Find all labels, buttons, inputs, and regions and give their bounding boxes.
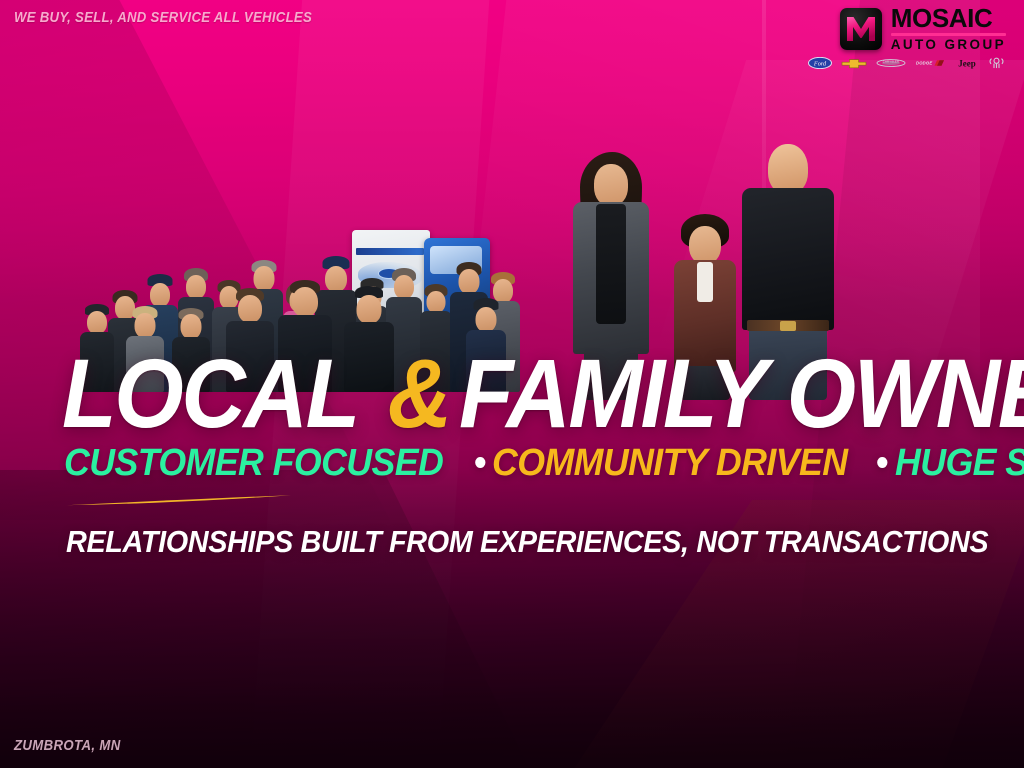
ram-icon: [989, 56, 1004, 70]
headline-part-1: LOCAL: [62, 345, 358, 442]
dodge-icon: DODGE: [915, 56, 945, 70]
logo-wordmark: MOSAIC AUTO GROUP: [891, 6, 1006, 51]
svg-text:DODGE: DODGE: [916, 61, 932, 66]
logo-subtitle: AUTO GROUP: [891, 38, 1006, 52]
jeep-icon: Jeep: [954, 56, 980, 70]
brand-logo-strip: Ford CHRYSLER DODGE: [808, 56, 1006, 70]
subheadline-item-3: HUGE SELECTION: [895, 444, 1024, 482]
subheadline-item-1: CUSTOMER FOCUSED: [64, 444, 443, 482]
logo-row: MOSAIC AUTO GROUP: [840, 6, 1006, 51]
svg-text:Ford: Ford: [813, 61, 827, 68]
chrysler-icon: CHRYSLER: [876, 56, 906, 70]
chevrolet-icon: [841, 56, 867, 70]
ford-icon: Ford: [808, 56, 832, 70]
svg-text:Jeep: Jeep: [958, 59, 976, 69]
headline-part-2: FAMILY OWNED: [459, 345, 1024, 442]
subheadline-item-2: COMMUNITY DRIVEN: [492, 444, 847, 482]
logo-name: MOSAIC: [891, 6, 993, 31]
subheadline-separator-2: •: [870, 444, 893, 482]
mosaic-auto-group-logo[interactable]: MOSAIC AUTO GROUP Ford: [808, 6, 1006, 70]
logo-divider: [891, 33, 1006, 36]
top-tagline: WE BUY, SELL, AND SERVICE ALL VEHICLES: [14, 9, 312, 26]
headline: LOCAL&FAMILY OWNED: [62, 345, 982, 442]
tagline-text: RELATIONSHIPS BUILT FROM EXPERIENCES, NO…: [66, 524, 988, 560]
subheadline: CUSTOMER FOCUSED•COMMUNITY DRIVEN•HUGE S…: [64, 444, 1024, 482]
dealership-hero-banner: WE BUY, SELL, AND SERVICE ALL VEHICLES: [0, 0, 1024, 768]
gold-swoosh-divider: [66, 494, 292, 507]
tagline: RELATIONSHIPS BUILT FROM EXPERIENCES, NO…: [66, 524, 1024, 560]
headline-ampersand: &: [384, 345, 454, 442]
svg-text:CHRYSLER: CHRYSLER: [883, 60, 899, 64]
subheadline-separator-1: •: [468, 444, 491, 482]
location-label: ZUMBROTA, MN: [14, 737, 121, 754]
mosaic-m-icon: [840, 8, 882, 50]
